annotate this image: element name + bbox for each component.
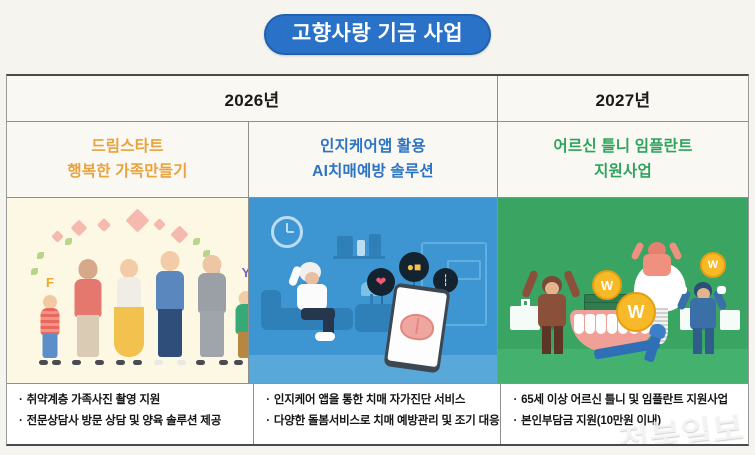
subtitle-line-2: AI치매예방 솔루션 xyxy=(312,160,434,184)
bullet-text: 다양한 돌봄서비스로 치매 예방관리 및 조기 대응 xyxy=(274,415,500,427)
table-row-bullets: ·취약계층 가족사진 촬영 지원 ·전문상담사 방문 상담 및 양육 솔루션 제… xyxy=(7,384,748,444)
bullet-text: 본인부담금 지원(10만원 이내) xyxy=(521,415,661,427)
subtitle-line-1: 인지케어앱 활용 xyxy=(312,135,434,159)
subtitle-cell-dreamstart: 드림스타트 행복한 가족만들기 xyxy=(7,122,249,197)
bullet-text: 인지케어 앱을 통한 치매 자가진단 서비스 xyxy=(274,394,465,406)
heart-icon: ❤ xyxy=(367,268,395,296)
pills-icon: ●■ xyxy=(399,252,429,282)
brain-icon xyxy=(398,312,435,342)
coin-icon: W xyxy=(700,252,726,278)
title-area: 고향사랑 기금 사업 xyxy=(0,14,755,55)
year-header-2027: 2027년 xyxy=(498,76,748,121)
bullet-item: ·전문상담사 방문 상담 및 양육 솔루션 제공 xyxy=(19,411,245,432)
subtitle-line-1: 어르신 틀니 임플란트 xyxy=(553,135,692,159)
bullet-marker: · xyxy=(19,415,23,427)
bullet-marker: · xyxy=(19,394,23,406)
bullet-text: 전문상담사 방문 상담 및 양육 솔루션 제공 xyxy=(27,415,221,427)
subtitle-line-2: 지원사업 xyxy=(553,160,692,184)
bullet-item: ·65세 이상 어르신 틀니 및 임플란트 지원사업 xyxy=(513,390,740,411)
letter-y: Y xyxy=(242,265,249,280)
hospital-icon xyxy=(510,306,540,330)
year-label: 2027년 xyxy=(596,86,651,111)
smartphone xyxy=(383,283,450,374)
illustration-family: F A M xyxy=(7,198,249,383)
bullet-item: ·다양한 돌봄서비스로 치매 예방관리 및 조기 대응 xyxy=(266,411,492,432)
bullet-text: 65세 이상 어르신 틀니 및 임플란트 지원사업 xyxy=(521,394,728,406)
subtitle-line-1: 드림스타트 xyxy=(67,135,187,159)
bullet-text: 취약계층 가족사진 촬영 지원 xyxy=(27,394,161,406)
bullets-cell-dental-implant: ·65세 이상 어르신 틀니 및 임플란트 지원사업 ·본인부담금 지원(10만… xyxy=(501,384,748,444)
bullet-marker: · xyxy=(266,415,270,427)
infographic-page: 고향사랑 기금 사업 2026년 2027년 드림스타트 행복한 가족만들기 인… xyxy=(0,0,755,455)
year-header-2026: 2026년 xyxy=(7,76,498,121)
page-title-badge: 고향사랑 기금 사업 xyxy=(264,14,491,55)
subtitle-cell-cognitive-care: 인지케어앱 활용 AI치매예방 솔루션 xyxy=(249,122,498,197)
subtitle-line-2: 행복한 가족만들기 xyxy=(67,160,187,184)
bullet-item: ·본인부담금 지원(10만원 이내) xyxy=(513,411,740,432)
bullet-item: ·취약계층 가족사진 촬영 지원 xyxy=(19,390,245,411)
bullets-cell-cognitive-care: ·인지케어 앱을 통한 치매 자가진단 서비스 ·다양한 돌봄서비스로 치매 예… xyxy=(254,384,501,444)
programs-table: 2026년 2027년 드림스타트 행복한 가족만들기 인지케어앱 활용 AI치… xyxy=(6,74,749,446)
coin-icon: W xyxy=(616,292,656,332)
illustration-dental-implant: W W W xyxy=(498,198,748,383)
table-row-illustrations: F A M xyxy=(7,198,748,384)
bullet-item: ·인지케어 앱을 통한 치매 자가진단 서비스 xyxy=(266,390,492,411)
bullet-marker: · xyxy=(266,394,270,406)
coin-icon: W xyxy=(592,270,622,300)
table-row-subtitles: 드림스타트 행복한 가족만들기 인지케어앱 활용 AI치매예방 솔루션 어르신 … xyxy=(7,122,748,198)
bullet-marker: · xyxy=(513,394,517,406)
subtitle-cell-dental-implant: 어르신 틀니 임플란트 지원사업 xyxy=(498,122,748,197)
table-row-years: 2026년 2027년 xyxy=(7,76,748,122)
illustration-cognitive-care: ❤ ●■ ┆ xyxy=(249,198,498,383)
bullet-marker: · xyxy=(513,415,517,427)
letter-f: F xyxy=(46,275,54,290)
bullets-cell-dreamstart: ·취약계층 가족사진 촬영 지원 ·전문상담사 방문 상담 및 양육 솔루션 제… xyxy=(7,384,254,444)
year-label: 2026년 xyxy=(225,86,280,111)
